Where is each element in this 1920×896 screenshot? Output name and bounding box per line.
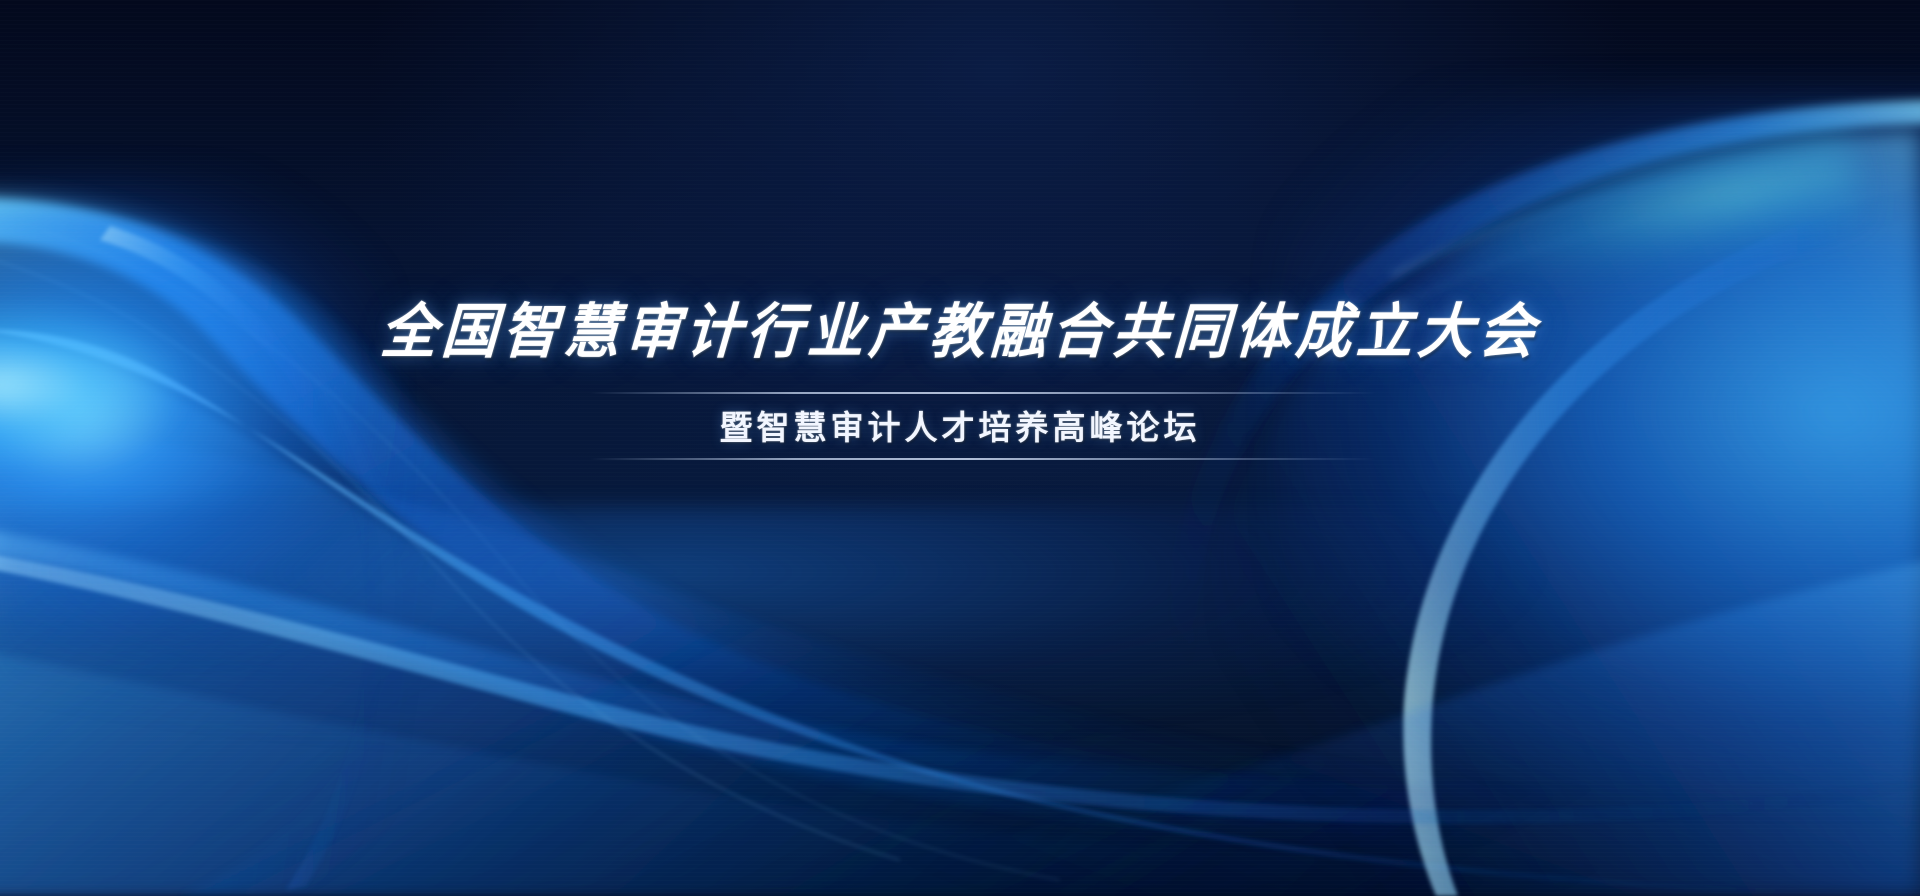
page-subtitle: 暨智慧审计人才培养高峰论坛 (0, 406, 1920, 450)
subtitle-group: 暨智慧审计人才培养高峰论坛 (0, 392, 1920, 480)
bottom-wave-glow (0, 506, 1920, 836)
divider-line-bottom (590, 458, 1376, 460)
page-title: 全国智慧审计行业产教融合共同体成立大会 (0, 294, 1920, 370)
conference-banner: 全国智慧审计行业产教融合共同体成立大会 暨智慧审计人才培养高峰论坛 (0, 0, 1920, 896)
banner-text-block: 全国智慧审计行业产教融合共同体成立大会 暨智慧审计人才培养高峰论坛 (0, 296, 1920, 480)
divider-line-top (590, 392, 1376, 394)
